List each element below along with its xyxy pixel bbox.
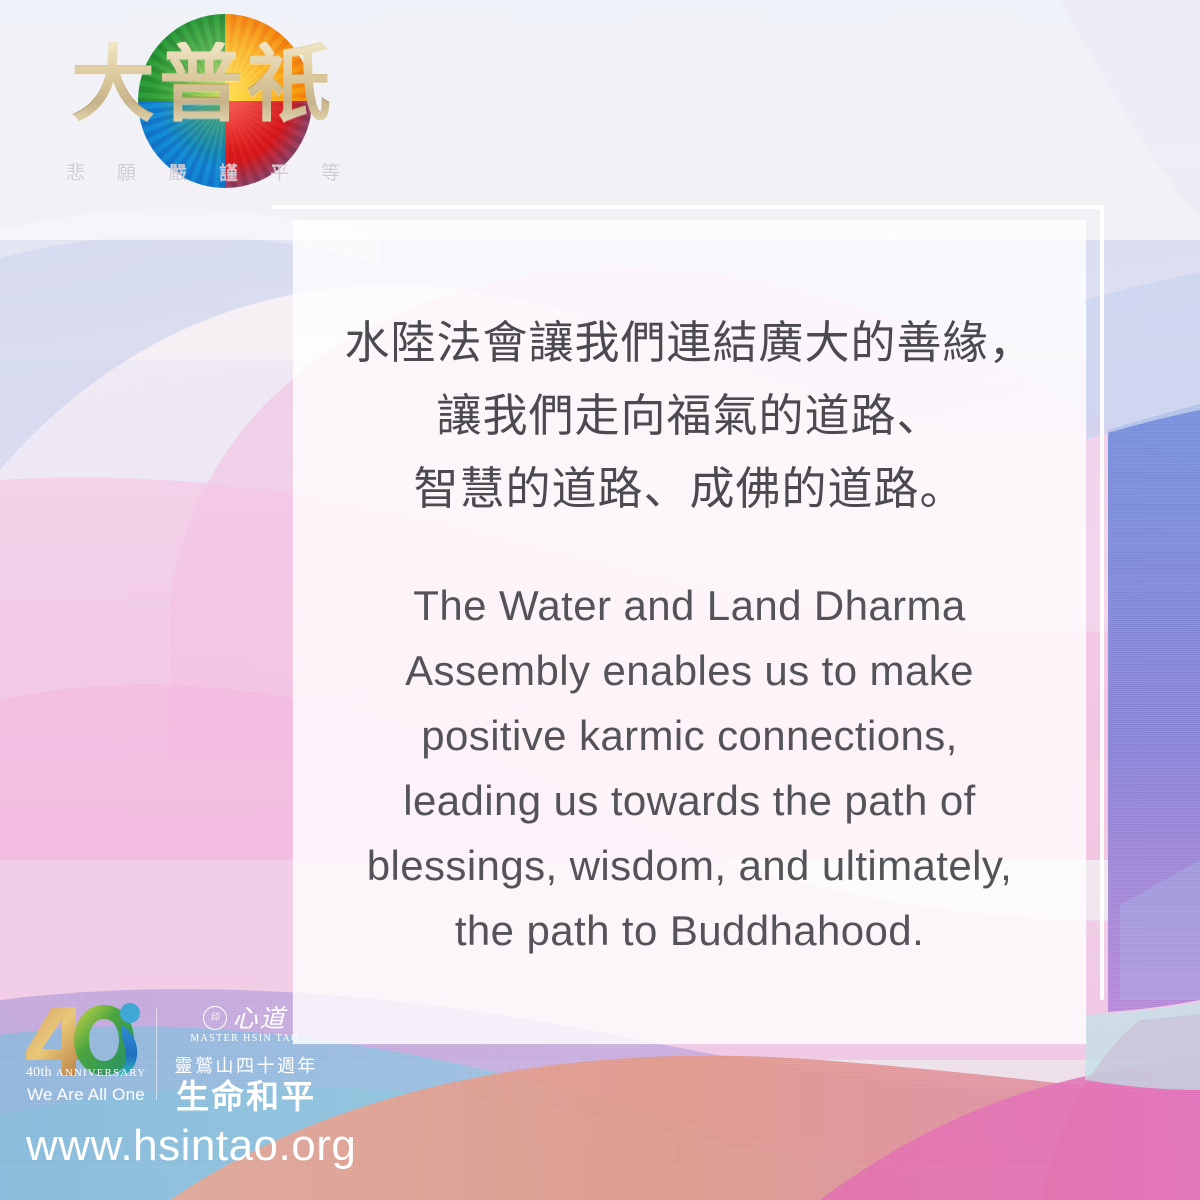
website-url[interactable]: www.hsintao.org [26,1121,356,1171]
quote-en-line-4: leading us towards the path of [367,768,1012,833]
quote-en-line-2: Assembly enables us to make [367,638,1012,703]
quote-en-line-6: the path to Buddhahood. [367,898,1012,963]
organization-tagline-2: 生命和平 [170,1080,320,1115]
footer-divider [156,1008,157,1100]
quote-zh-line-3: 智慧的道路、成佛的道路。 [344,452,1034,525]
frame-line-vertical [1100,205,1104,1000]
quote-english: The Water and Land Dharma Assembly enabl… [367,573,1012,963]
quote-en-line-3: positive karmic connections, [367,703,1012,768]
anniversary-ordinal: 40th [26,1065,52,1080]
organization-logo: 印 心道 MASTER HSIN TAO 靈鷲山四十週年 生命和平 [170,1001,320,1107]
anniversary-caption-line-2: We Are All One [22,1085,150,1105]
frame-line-horizontal [272,205,1104,209]
anniversary-caption-line-1: 40th ANNIVERSARY [22,1065,150,1081]
footer-logo-group: 40th ANNIVERSARY We Are All One 印 心道 MAS… [22,1000,312,1108]
poster-canvas: 大普祇 悲 願 嚴 謹 平 等 水陸法會讓我們連結廣大的善緣， 讓我們走向福氣的… [0,0,1200,1200]
quote-en-line-1: The Water and Land Dharma [367,573,1012,638]
organization-tagline-1: 靈鷲山四十週年 [170,1052,320,1078]
quote-chinese: 水陸法會讓我們連結廣大的善緣， 讓我們走向福氣的道路、 智慧的道路、成佛的道路。 [344,306,1034,525]
anniversary-word: ANNIVERSARY [56,1067,146,1079]
brand-logo-subtitle: 悲 願 嚴 謹 平 等 [38,158,368,185]
seal-icon: 印 [203,1006,227,1030]
organization-mark: 心道 [232,1006,286,1031]
quote-zh-line-2: 讓我們走向福氣的道路、 [344,379,1034,452]
quote-en-line-5: blessings, wisdom, and ultimately, [367,833,1012,898]
brand-logo-title: 大普祇 [38,42,368,126]
organization-romanization: MASTER HSIN TAO [170,1033,320,1044]
quote-zh-line-1: 水陸法會讓我們連結廣大的善緣， [344,306,1034,379]
anniversary-logo: 40th ANNIVERSARY We Are All One [22,1001,150,1107]
brand-logo: 大普祇 悲 願 嚴 謹 平 等 [38,8,368,208]
quote-card: 水陸法會讓我們連結廣大的善緣， 讓我們走向福氣的道路、 智慧的道路、成佛的道路。… [293,220,1086,1044]
